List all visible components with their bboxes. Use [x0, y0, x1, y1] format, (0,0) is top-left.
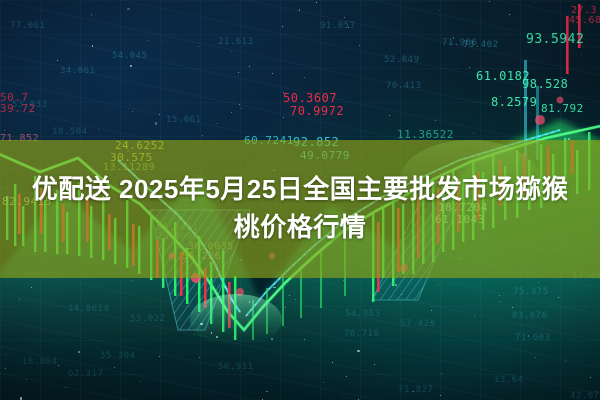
headline-container: 优配送 2025年5月25日全国主要批发市场猕猴桃价格行情: [0, 140, 600, 278]
page-title: 优配送 2025年5月25日全国主要批发市场猕猴桃价格行情: [26, 171, 574, 246]
banner-image: 93.594261.018298.5288.257981.79218.72046…: [0, 0, 600, 400]
